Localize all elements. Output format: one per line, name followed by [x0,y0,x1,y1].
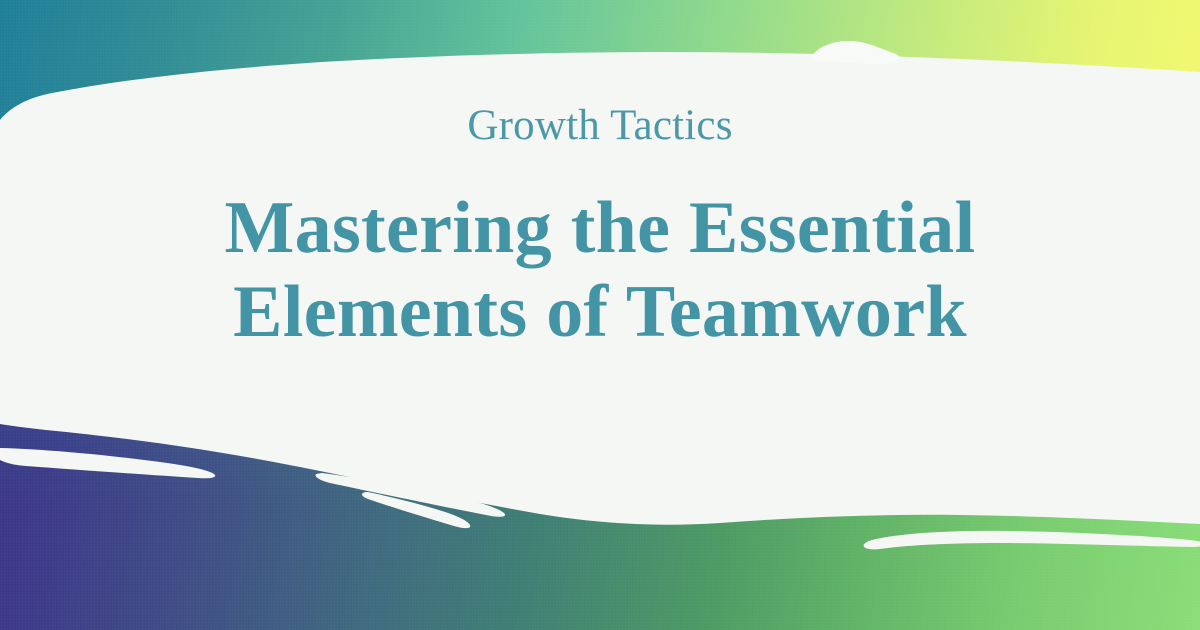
white-brush-stroke-right-3-shape [864,531,1200,550]
brush-stroke-artwork [0,0,1200,630]
white-brush-sliver-left-shape [0,448,215,478]
social-card: Growth Tactics Mastering the Essential E… [0,0,1200,630]
white-brush-blob-top-right-shape [812,41,901,64]
white-brush-banner-shape [0,52,1200,525]
